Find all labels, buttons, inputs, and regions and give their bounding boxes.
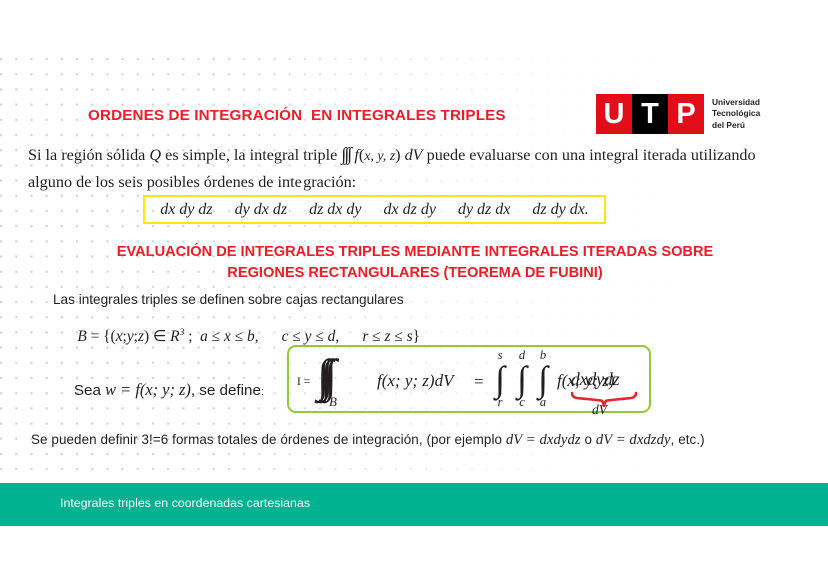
utp-logo-mark: U T P: [596, 94, 704, 134]
section-title-line1: EVALUACIÓN DE INTEGRALES TRIPLES MEDIANT…: [30, 242, 800, 263]
section-title-line2: REGIONES RECTANGULARES (TEOREMA DE FUBIN…: [30, 263, 800, 284]
intro-paragraph: Si la región sólida Q es simple, la inte…: [28, 140, 803, 196]
formula-integrand-left: f(x; y; z)dV: [377, 371, 453, 391]
section-title: EVALUACIÓN DE INTEGRALES TRIPLES MEDIANT…: [30, 242, 800, 283]
slide-canvas: U T P Universidad Tecnológica del Perú O…: [0, 0, 828, 586]
footer-text: Integrales triples en coordenadas cartes…: [60, 496, 310, 510]
integral-sign: ∫: [489, 362, 511, 396]
fubini-formula: I = ∫∫∫ B f(x; y; z)dV = s ∫ r d ∫ c b ∫…: [289, 347, 649, 411]
integral-lower-limit: c: [511, 396, 533, 409]
differential-term: dxdydz: [571, 369, 620, 392]
integral-stack-x: b ∫ a: [532, 349, 554, 408]
sea-prefix: Sea: [74, 382, 105, 399]
definition-line-1: Las integrales triples se definen sobre …: [53, 292, 404, 307]
order-item: dz dx dy: [309, 201, 361, 219]
triple-integral-symbol: ∫∫∫: [317, 353, 328, 399]
triple-integral-subscript: B: [329, 394, 337, 410]
bottom-note-math-2: dV = dxdzdy: [596, 432, 671, 448]
utp-word-del-peru: del Perú: [712, 120, 760, 131]
utp-letter-p: P: [668, 94, 704, 134]
integral-lower-limit: a: [532, 396, 554, 409]
utp-logo: U T P Universidad Tecnológica del Perú: [596, 94, 760, 134]
formula-equals: =: [474, 372, 484, 392]
utp-word-universidad: Universidad: [712, 97, 760, 108]
utp-letter-u: U: [596, 94, 632, 134]
integral-sign: ∫: [532, 362, 554, 396]
bottom-note-suffix: , etc.): [671, 432, 705, 447]
differential-label: dV: [592, 402, 607, 418]
order-item: dy dx dz: [235, 201, 287, 219]
integration-orders-box: dx dy dz dy dx dz dz dx dy dx dz dy dy d…: [143, 195, 606, 224]
integral-lower-limit: r: [489, 396, 511, 409]
order-item: dx dz dy: [384, 201, 436, 219]
utp-word-tecnologica: Tecnológica: [712, 108, 760, 119]
sea-colon: :: [261, 386, 264, 398]
integral-sign: ∫: [511, 362, 533, 396]
order-item: dz dy dx.: [532, 201, 588, 219]
order-item: dx dy dz: [160, 201, 212, 219]
formula-lhs-label: I =: [297, 376, 310, 388]
bottom-note-mid: o: [581, 432, 596, 447]
utp-letter-t: T: [632, 94, 668, 134]
integral-stack-y: d ∫ c: [511, 349, 533, 408]
definition-sea-label: Sea w = f(x; y; z), se define:: [57, 363, 264, 417]
bottom-note-math-1: dV = dxdydz: [506, 432, 581, 448]
fubini-formula-box: I = ∫∫∫ B f(x; y; z)dV = s ∫ r d ∫ c b ∫…: [287, 345, 651, 413]
order-item: dy dz dx: [458, 201, 510, 219]
utp-logo-wordmark: Universidad Tecnológica del Perú: [712, 97, 760, 131]
sea-suffix: , se define: [191, 382, 261, 399]
page-title: ORDENES DE INTEGRACIÓN EN INTEGRALES TRI…: [88, 107, 506, 124]
differential-group: dxdydz dV: [571, 369, 620, 392]
bottom-note: Se pueden definir 3!=6 formas totales de…: [31, 432, 799, 449]
bottom-note-prefix: Se pueden definir 3!=6 formas totales de…: [31, 432, 506, 447]
integral-stack-z: s ∫ r: [489, 349, 511, 408]
